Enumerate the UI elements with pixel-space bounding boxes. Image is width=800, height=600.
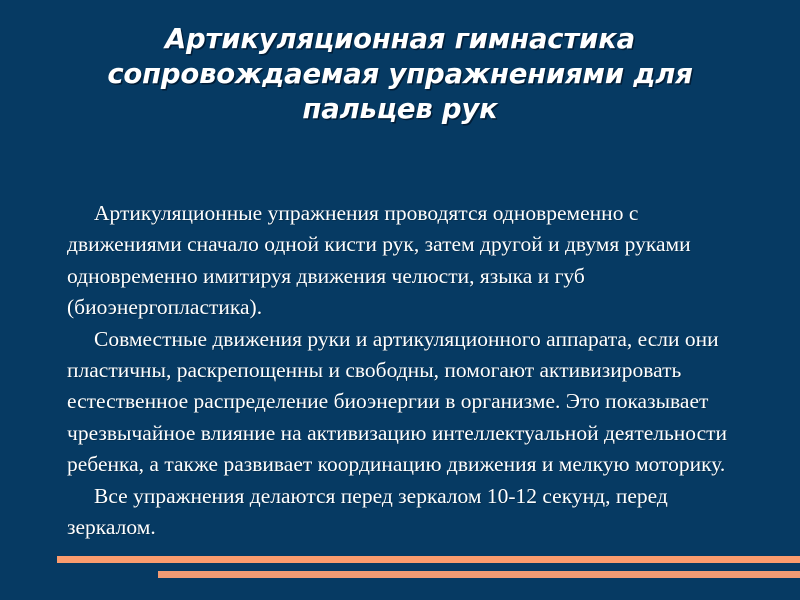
- decorative-bar-bottom: [158, 571, 800, 578]
- presentation-slide: Артикуляционная гимнастика сопровождаема…: [0, 0, 800, 600]
- decorative-bar-top: [57, 556, 800, 563]
- body-paragraph-3: Все упражнения делаются перед зеркалом 1…: [67, 481, 739, 544]
- page-title: Артикуляционная гимнастика сопровождаема…: [40, 22, 760, 127]
- slide-title-block: Артикуляционная гимнастика сопровождаема…: [40, 22, 760, 127]
- body-paragraph-1: Артикуляционные упражнения проводятся од…: [67, 198, 739, 324]
- slide-body-block: Артикуляционные упражнения проводятся од…: [67, 198, 739, 543]
- body-paragraph-2: Совместные движения руки и артикуляционн…: [67, 324, 739, 481]
